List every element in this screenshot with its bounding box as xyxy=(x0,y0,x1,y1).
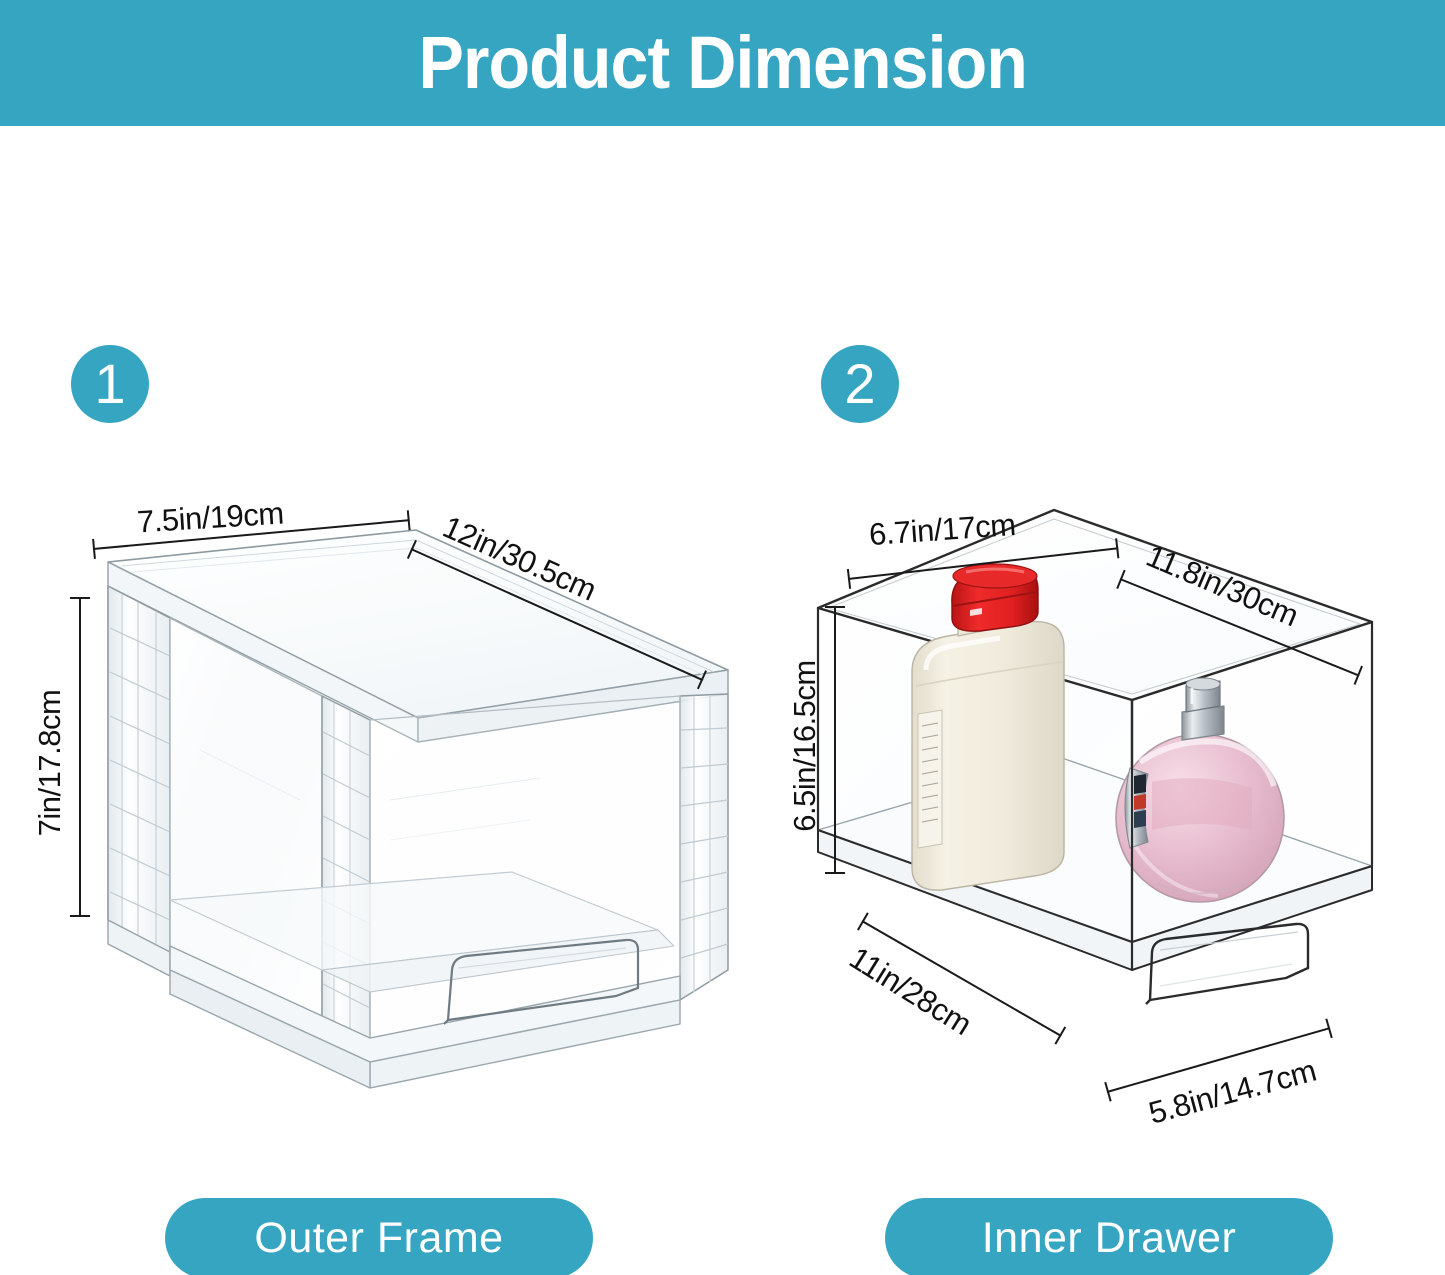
step-badge-2: 2 xyxy=(821,345,899,423)
dim-label-drawer-width: 6.7in/17cm xyxy=(868,507,1017,553)
dim-line-drawer-width xyxy=(848,547,1118,580)
page-title: Product Dimension xyxy=(418,26,1026,100)
dim-line-frame-height xyxy=(79,597,81,917)
dim-label-drawer-front-width: 5.8in/14.7cm xyxy=(1145,1053,1320,1132)
outer-frame-illustration xyxy=(60,500,760,1140)
step-badge-2-number: 2 xyxy=(844,356,875,412)
outer-frame-label-pill: Outer Frame xyxy=(165,1198,593,1275)
outer-frame-label-text: Outer Frame xyxy=(254,1214,503,1263)
dim-line-drawer-height xyxy=(834,606,836,874)
dim-label-frame-depth: 12in/30.5cm xyxy=(437,509,601,608)
product-dimension-infographic: Product Dimension 1 2 xyxy=(0,0,1445,1275)
dim-label-drawer-height: 6.5in/16.5cm xyxy=(787,626,823,866)
step-badge-1-number: 1 xyxy=(94,356,125,412)
inner-drawer-label-pill: Inner Drawer xyxy=(885,1198,1333,1275)
dim-label-frame-height: 7in/17.8cm xyxy=(32,658,68,868)
dim-label-drawer-side-depth: 11in/28cm xyxy=(843,940,978,1043)
inner-drawer-illustration xyxy=(800,500,1420,1140)
header-banner: Product Dimension xyxy=(0,0,1445,126)
step-badge-1: 1 xyxy=(71,345,149,423)
inner-drawer-label-text: Inner Drawer xyxy=(982,1214,1237,1263)
